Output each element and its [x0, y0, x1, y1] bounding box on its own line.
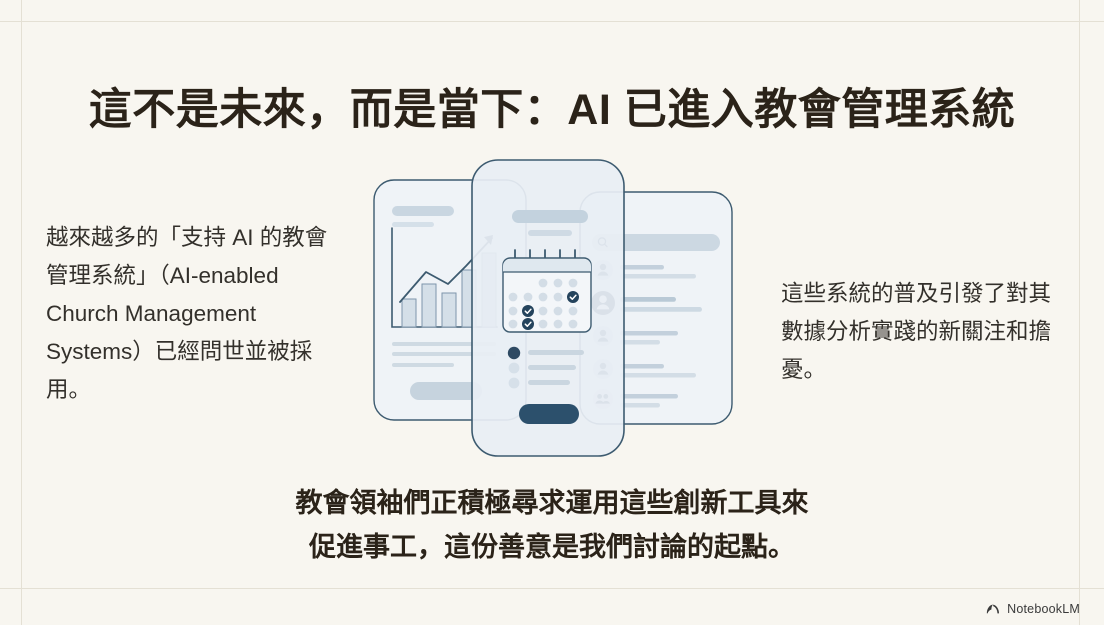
caption-line-2: 促進事工，這份善意是我們討論的起點。	[0, 525, 1104, 569]
analytics-title-bar	[392, 206, 454, 216]
guide-line-bottom	[0, 588, 1104, 589]
calendar-title-pill	[512, 210, 588, 223]
calendar-subtitle-bar	[528, 230, 572, 236]
bottom-caption: 教會領袖們正積極尋求運用這些創新工具來 促進事工，這份善意是我們討論的起點。	[0, 481, 1104, 569]
page-title: 這不是未來，而是當下：AI 已進入教會管理系統	[0, 81, 1104, 139]
right-body-text: 這些系統的普及引發了對其數據分析實踐的新關注和擔憂。	[781, 275, 1051, 389]
analytics-text-line-3	[392, 363, 454, 367]
notebooklm-brand-label: NotebookLM	[1007, 602, 1080, 616]
notebooklm-brand: NotebookLM	[986, 602, 1080, 616]
left-body-text: 越來越多的「支持 AI 的教會管理系統」（AI-enabled Church M…	[46, 219, 346, 409]
calendar-primary-button[interactable]	[519, 404, 579, 424]
calendar-header-band	[503, 259, 591, 272]
calendar-widget[interactable]	[503, 250, 591, 332]
caption-line-1: 教會領袖們正積極尋求運用這些創新工具來	[0, 481, 1104, 525]
analytics-subtitle-bar	[392, 222, 434, 227]
calendar-card[interactable]	[472, 160, 624, 456]
guide-line-top	[0, 21, 1104, 22]
church-management-app-screens-illustration	[362, 142, 744, 472]
slide-canvas: 這不是未來，而是當下：AI 已進入教會管理系統 越來越多的「支持 AI 的教會管…	[0, 0, 1104, 625]
notebooklm-logo-icon	[986, 603, 1001, 615]
